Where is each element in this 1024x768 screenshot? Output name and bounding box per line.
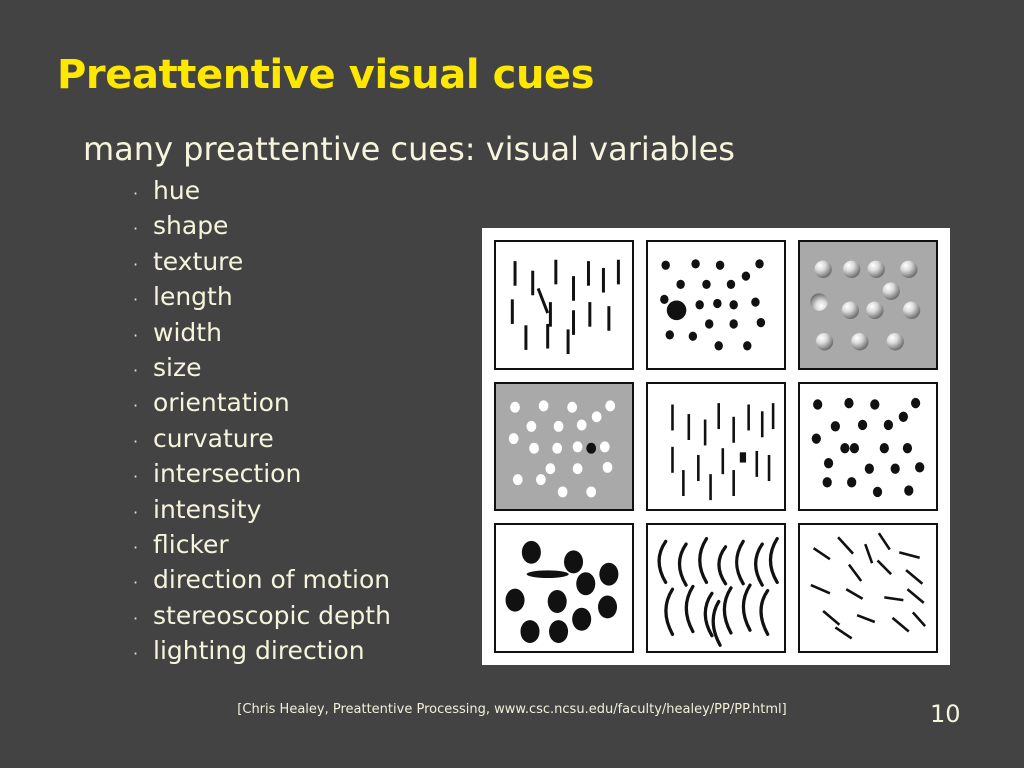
cue-list-item-label: width bbox=[153, 318, 222, 347]
page-title: Preattentive visual cues bbox=[57, 52, 594, 98]
panel-orientation-random bbox=[798, 523, 938, 653]
size-larger-dot-graphic bbox=[648, 242, 784, 368]
page-number: 10 bbox=[930, 700, 961, 728]
cue-list-item-label: flicker bbox=[153, 530, 229, 559]
bullet-dot-icon: · bbox=[133, 469, 153, 485]
cue-list-item: ·size bbox=[133, 353, 473, 388]
cue-list-item: ·width bbox=[133, 318, 473, 353]
bullet-dot-icon: · bbox=[133, 505, 153, 521]
bullet-dot-icon: · bbox=[133, 186, 153, 202]
bullet-dot-icon: · bbox=[133, 328, 153, 344]
slide-subtitle: many preattentive cues: visual variables bbox=[83, 130, 735, 168]
panel-curvature-arcs bbox=[646, 523, 786, 653]
curvature-arcs-graphic bbox=[648, 525, 784, 651]
cue-list-item: ·curvature bbox=[133, 424, 473, 459]
panel-shape-flat-ellipse bbox=[494, 523, 634, 653]
orientation-tilt-graphic bbox=[496, 242, 632, 368]
cue-list-item-label: hue bbox=[153, 176, 200, 205]
cue-list-item: ·stereoscopic depth bbox=[133, 601, 473, 636]
cue-list-item: ·orientation bbox=[133, 388, 473, 423]
cue-list-item: ·hue bbox=[133, 176, 473, 211]
cue-list-item-label: intensity bbox=[153, 495, 261, 524]
cue-list-item: ·flicker bbox=[133, 530, 473, 565]
bullet-dot-icon: · bbox=[133, 292, 153, 308]
cue-list-item-label: size bbox=[153, 353, 201, 382]
cue-list-item-label: curvature bbox=[153, 424, 274, 453]
length-shape-graphic bbox=[648, 384, 784, 510]
panel-intensity-dark-dot bbox=[494, 382, 634, 512]
bullet-dot-icon: · bbox=[133, 398, 153, 414]
bullet-dot-icon: · bbox=[133, 257, 153, 273]
cue-list-item-label: shape bbox=[153, 211, 228, 240]
cue-list-item: ·length bbox=[133, 282, 473, 317]
lighting-direction-graphic bbox=[800, 242, 936, 368]
shape-flat-ellipse-graphic bbox=[496, 525, 632, 651]
slide-canvas: Preattentive visual cues many preattenti… bbox=[0, 0, 1024, 768]
panel-orientation-tilt bbox=[494, 240, 634, 370]
bullet-dot-icon: · bbox=[133, 221, 153, 237]
source-citation: [Chris Healey, Preattentive Processing, … bbox=[0, 702, 1024, 717]
bullet-dot-icon: · bbox=[133, 611, 153, 627]
preattentive-panel-grid bbox=[494, 240, 938, 653]
hue-dots-graphic bbox=[800, 384, 936, 510]
cue-list: ·hue·shape·texture·length·width·size·ori… bbox=[133, 176, 473, 671]
cue-list-item: ·shape bbox=[133, 211, 473, 246]
bullet-dot-icon: · bbox=[133, 434, 153, 450]
panel-length-shape-target bbox=[646, 382, 786, 512]
cue-list-item: ·lighting direction bbox=[133, 636, 473, 671]
cue-list-item-label: intersection bbox=[153, 459, 301, 488]
panel-hue-dots bbox=[798, 382, 938, 512]
panel-size-larger-dot bbox=[646, 240, 786, 370]
cue-list-item: ·texture bbox=[133, 247, 473, 282]
intensity-dark-dot-graphic bbox=[496, 384, 632, 510]
panel-lighting-direction bbox=[798, 240, 938, 370]
cue-list-item: ·intersection bbox=[133, 459, 473, 494]
cue-list-item: ·direction of motion bbox=[133, 565, 473, 600]
cue-list-item: ·intensity bbox=[133, 495, 473, 530]
cue-list-item-label: stereoscopic depth bbox=[153, 601, 391, 630]
cue-list-item-label: direction of motion bbox=[153, 565, 390, 594]
cue-list-item-label: lighting direction bbox=[153, 636, 365, 665]
bullet-dot-icon: · bbox=[133, 575, 153, 591]
cue-list-item-label: texture bbox=[153, 247, 243, 276]
preattentive-figure bbox=[482, 228, 950, 665]
bullet-dot-icon: · bbox=[133, 363, 153, 379]
bullet-dot-icon: · bbox=[133, 540, 153, 556]
orientation-random-graphic bbox=[800, 525, 936, 651]
bullet-dot-icon: · bbox=[133, 646, 153, 662]
cue-list-item-label: orientation bbox=[153, 388, 290, 417]
cue-list-item-label: length bbox=[153, 282, 233, 311]
